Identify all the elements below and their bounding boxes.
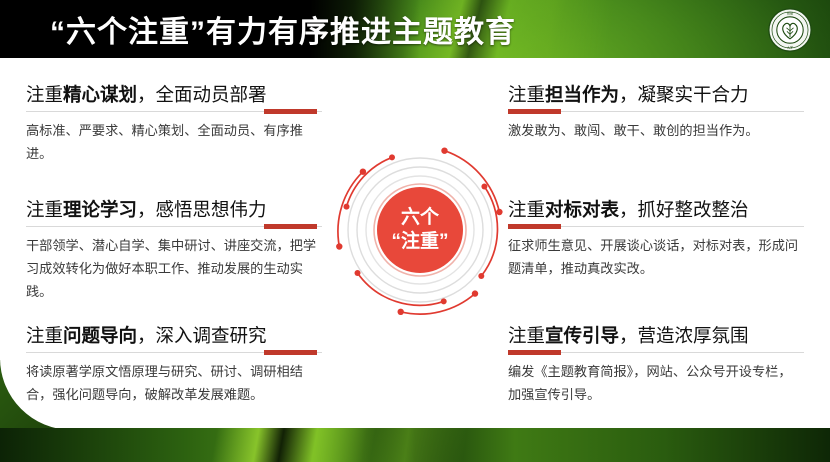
core-circle — [377, 187, 463, 273]
heading-prefix: 注重 — [26, 84, 63, 105]
heading-prefix: 注重 — [508, 84, 545, 105]
heading-divider — [26, 350, 322, 355]
svg-text:大学: 大学 — [787, 44, 793, 49]
heading-suffix: ，抓好整改整治 — [619, 199, 749, 220]
heading-divider — [508, 109, 804, 114]
block-heading: 注重精心谋划，全面动员部署 — [26, 84, 326, 105]
heading-prefix: 注重 — [508, 325, 545, 346]
slide-root: “六个注重”有力有序推进主题教育 校徽 大学 — [0, 0, 830, 462]
block-body-text: 编发《主题教育简报》，网站、公众号开设专栏，加强宣传引导。 — [508, 362, 800, 407]
heading-suffix: ，全面动员部署 — [137, 84, 267, 105]
svg-text:校徽: 校徽 — [787, 11, 793, 16]
divider-red-segment — [264, 109, 317, 114]
heading-keyword: 问题导向 — [63, 325, 137, 346]
content-block-right-1: 注重担当作为，凝聚实干合力 激发敢为、敢闯、敢干、敢创的担当作为。 — [508, 84, 808, 144]
heading-keyword: 对标对表 — [545, 199, 619, 220]
heading-divider — [508, 224, 804, 229]
divider-red-segment — [508, 224, 561, 229]
divider-red-segment — [508, 109, 561, 114]
block-body-text: 将读原著学原文悟原理与研究、研讨、调研相结合，强化问题导向，破解改革发展难题。 — [26, 362, 318, 407]
heading-prefix: 注重 — [26, 325, 63, 346]
heading-divider — [26, 224, 322, 229]
heading-prefix: 注重 — [508, 199, 545, 220]
divider-red-segment — [264, 350, 317, 355]
university-emblem-icon: 校徽 大学 — [768, 8, 812, 52]
content-block-right-2: 注重对标对表，抓好整改整治 征求师生意见、开展谈心谈话，对标对表，形成问题清单，… — [508, 199, 808, 282]
bottom-green-bar — [0, 428, 830, 462]
content-block-left-2: 注重理论学习，感悟思想伟力 干部领学、潜心自学、集中研讨、讲座交流，把学习成效转… — [26, 199, 326, 304]
heading-divider — [26, 109, 322, 114]
block-heading: 注重宣传引导，营造浓厚氛围 — [508, 325, 808, 346]
heading-divider — [508, 350, 804, 355]
center-circle-graphic: 六个 “注重” — [332, 142, 508, 318]
center-rings-svg — [332, 142, 508, 318]
block-heading: 注重理论学习，感悟思想伟力 — [26, 199, 326, 220]
content-block-right-3: 注重宣传引导，营造浓厚氛围 编发《主题教育简报》，网站、公众号开设专栏，加强宣传… — [508, 325, 808, 408]
block-heading: 注重对标对表，抓好整改整治 — [508, 199, 808, 220]
block-heading: 注重担当作为，凝聚实干合力 — [508, 84, 808, 105]
heading-keyword: 宣传引导 — [545, 325, 619, 346]
heading-prefix: 注重 — [26, 199, 63, 220]
heading-keyword: 担当作为 — [545, 84, 619, 105]
block-body-text: 干部领学、潜心自学、集中研讨、讲座交流，把学习成效转化为做好本职工作、推动发展的… — [26, 236, 318, 304]
block-body-text: 高标准、严要求、精心策划、全面动员、有序推进。 — [26, 121, 318, 166]
heading-suffix: ，营造浓厚氛围 — [619, 325, 749, 346]
heading-suffix: ，感悟思想伟力 — [137, 199, 267, 220]
heading-suffix: ，深入调查研究 — [137, 325, 267, 346]
heading-suffix: ，凝聚实干合力 — [619, 84, 749, 105]
content-block-left-3: 注重问题导向，深入调查研究 将读原著学原文悟原理与研究、研讨、调研相结合，强化问… — [26, 325, 326, 408]
divider-red-segment — [508, 350, 561, 355]
content-block-left-1: 注重精心谋划，全面动员部署 高标准、严要求、精心策划、全面动员、有序推进。 — [26, 84, 326, 167]
block-heading: 注重问题导向，深入调查研究 — [26, 325, 326, 346]
divider-red-segment — [264, 224, 317, 229]
heading-keyword: 理论学习 — [63, 199, 137, 220]
heading-keyword: 精心谋划 — [63, 84, 137, 105]
block-body-text: 激发敢为、敢闯、敢干、敢创的担当作为。 — [508, 121, 800, 144]
page-title: “六个注重”有力有序推进主题教育 — [50, 7, 516, 51]
block-body-text: 征求师生意见、开展谈心谈话，对标对表，形成问题清单，推动真改实改。 — [508, 236, 800, 281]
